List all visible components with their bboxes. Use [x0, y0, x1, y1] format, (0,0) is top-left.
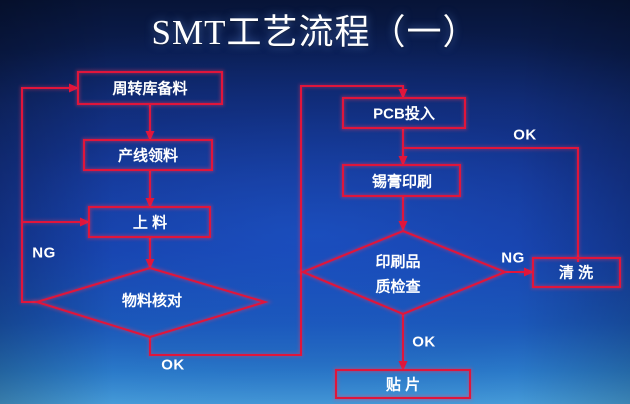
node-cleaning[interactable]: 清 洗 — [533, 258, 620, 287]
node-line-pick[interactable]: 产线领料 — [84, 140, 212, 170]
node-material-check-label: 物料核对 — [122, 292, 182, 310]
node-print-inspect[interactable]: 印刷品 质检查 — [303, 231, 505, 314]
node-shape-layer — [37, 72, 620, 398]
node-print-inspect-diamond[interactable] — [303, 231, 505, 314]
edge-label-print-inspect-ng: NG — [501, 250, 525, 267]
node-stock-prep[interactable]: 周转库备料 — [78, 72, 222, 104]
connector-layer — [22, 84, 578, 372]
node-solder-print[interactable]: 锡膏印刷 — [343, 165, 460, 196]
node-mounting-label: 贴 片 — [386, 376, 420, 394]
node-material-check[interactable]: 物料核对 — [37, 268, 265, 337]
node-loading-label: 上 料 — [133, 214, 167, 232]
node-print-inspect-label-line1: 印刷品 — [375, 253, 420, 271]
node-loading[interactable]: 上 料 — [89, 207, 210, 237]
node-cleaning-label: 清 洗 — [559, 264, 593, 282]
node-line-pick-label: 产线领料 — [118, 147, 178, 165]
slide-canvas: SMT工艺流程（一） — [0, 0, 630, 404]
flowchart: 周转库备料 产线领料 上 料 物料核对 PCB投入 锡膏印刷 — [0, 0, 630, 404]
edge-label-print-inspect-ok: OK — [412, 334, 436, 351]
edge-label-material-check-ok: OK — [161, 357, 185, 374]
edge-label-cleaning-ok: OK — [513, 127, 537, 144]
node-solder-print-label: 锡膏印刷 — [372, 173, 432, 191]
node-pcb-input-label: PCB投入 — [373, 105, 435, 123]
connector-check-ng-rail — [22, 88, 74, 302]
node-mounting[interactable]: 贴 片 — [336, 370, 470, 398]
node-stock-prep-label: 周转库备料 — [112, 80, 187, 98]
edge-label-material-check-ng: NG — [32, 245, 56, 262]
node-pcb-input[interactable]: PCB投入 — [343, 98, 465, 128]
node-print-inspect-label-line2: 质检查 — [375, 278, 421, 296]
